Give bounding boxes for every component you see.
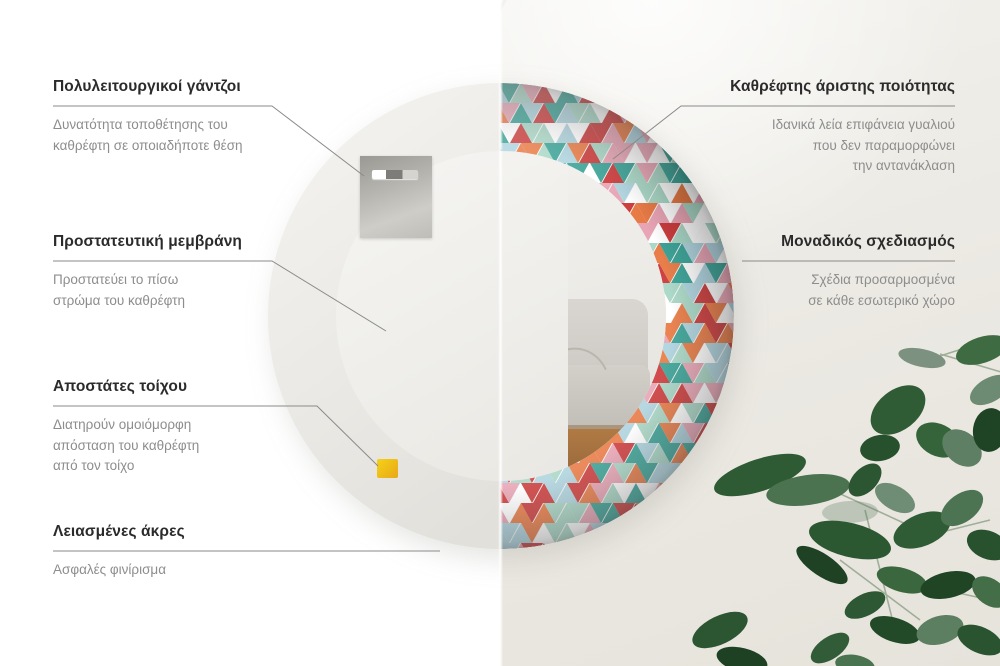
hanging-hook-plate (360, 156, 432, 238)
callout-protective-membrane-title: Προστατευτική μεμβράνη (53, 233, 242, 259)
pattern-triangle (728, 303, 734, 323)
callout-wall-spacers-body: Διατηρούν ομοιόμορφη απόσταση του καθρέφ… (53, 415, 199, 478)
foliage-decoration (690, 330, 1000, 666)
callout-wall-spacers-title: Αποστάτες τοίχου (53, 378, 199, 404)
callout-hooks-title: Πολυλειτουργικοί γάντζοι (53, 78, 243, 104)
callout-protective-membrane-body: Προστατεύει το πίσω στρώμα του καθρέφτη (53, 270, 242, 312)
callout-polished-edges-title: Λειασμένες άκρες (53, 523, 185, 549)
pattern-triangle (728, 203, 734, 223)
wall-spacer (377, 459, 398, 478)
pattern-triangle (728, 183, 734, 203)
callout-polished-edges-body: Ασφαλές φινίρισμα (53, 560, 185, 581)
callout-unique-design-body: Σχέδια προσαρμοσμένα σε κάθε εσωτερικό χ… (781, 270, 955, 312)
panel-seam (498, 0, 503, 666)
callout-top-quality-mirror: Καθρέφτης άριστης ποιότητας Ιδανικά λεία… (730, 78, 955, 177)
pattern-triangle (728, 223, 734, 243)
callout-unique-design: Μοναδικός σχεδιασμός Σχέδια προσαρμοσμέν… (781, 233, 955, 311)
callout-top-quality-mirror-title: Καθρέφτης άριστης ποιότητας (730, 78, 955, 104)
callout-unique-design-title: Μοναδικός σχεδιασμός (781, 233, 955, 259)
pattern-triangle (728, 243, 734, 263)
callout-top-quality-mirror-body: Ιδανικά λεία επιφάνεια γυαλιού που δεν π… (730, 115, 955, 178)
pattern-triangle (728, 263, 734, 283)
callout-polished-edges: Λειασμένες άκρες Ασφαλές φινίρισμα (53, 523, 185, 581)
infographic-canvas: Πολυλειτουργικοί γάντζοι Δυνατότητα τοπο… (0, 0, 1000, 666)
hook-slot-icon (372, 170, 418, 179)
pattern-triangle (728, 283, 734, 303)
reflected-floor (568, 429, 666, 481)
callout-protective-membrane: Προστατευτική μεμβράνη Προστατεύει το πί… (53, 233, 242, 311)
callout-wall-spacers: Αποστάτες τοίχου Διατηρούν ομοιόμορφη απ… (53, 378, 199, 477)
reflected-living-room (568, 151, 666, 481)
leaves-illustration (690, 330, 1000, 666)
callout-hooks-body: Δυνατότητα τοποθέτησης του καθρέφτη σε ο… (53, 115, 243, 157)
callout-hooks: Πολυλειτουργικοί γάντζοι Δυνατότητα τοπο… (53, 78, 243, 156)
